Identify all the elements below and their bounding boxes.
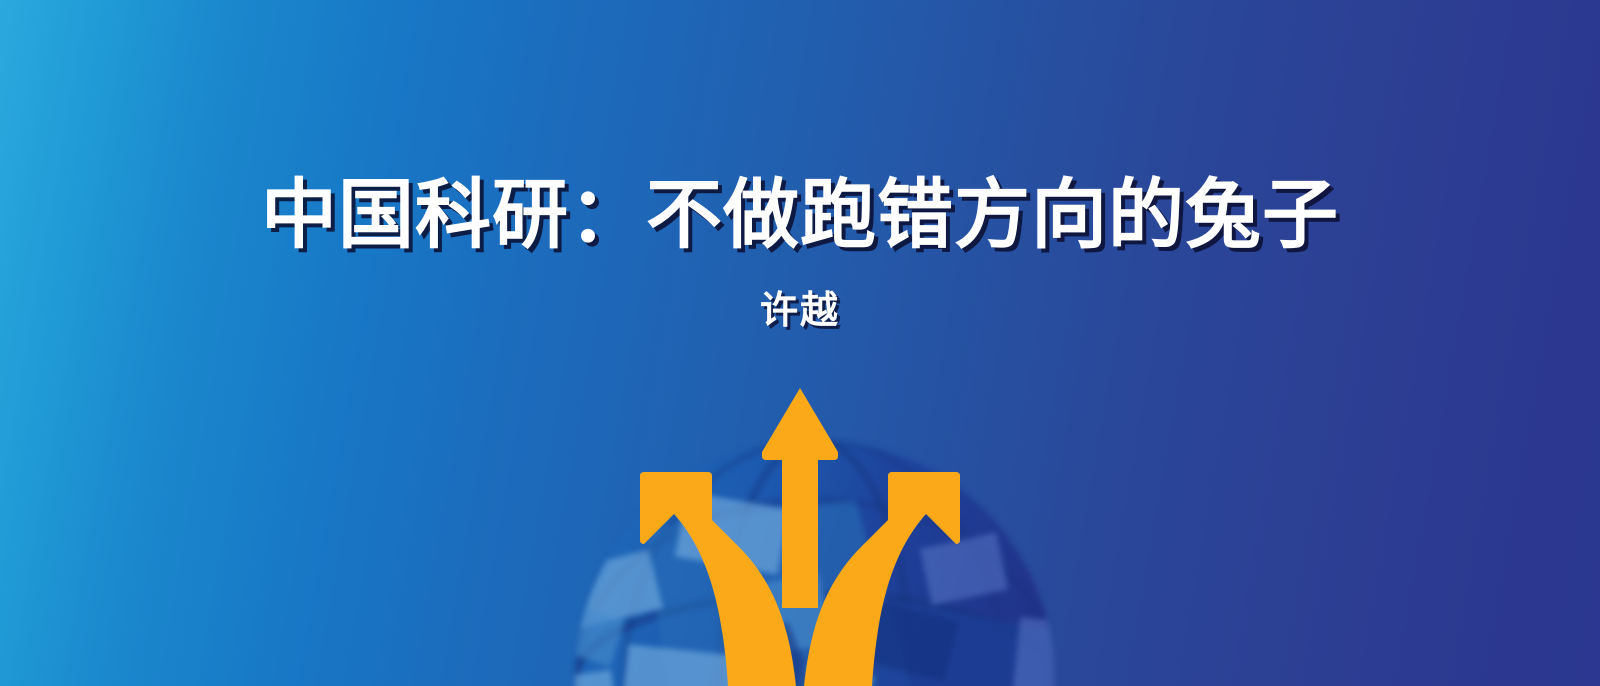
presentation-slide: 中国科研：不做跑错方向的兔子 许越 — [0, 0, 1600, 686]
author-subtitle: 许越 — [0, 292, 1600, 330]
three-way-fork-arrow-icon — [600, 380, 1000, 686]
fragmented-globe-icon — [495, 440, 1135, 686]
page-title: 中国科研：不做跑错方向的兔子 — [0, 178, 1600, 254]
